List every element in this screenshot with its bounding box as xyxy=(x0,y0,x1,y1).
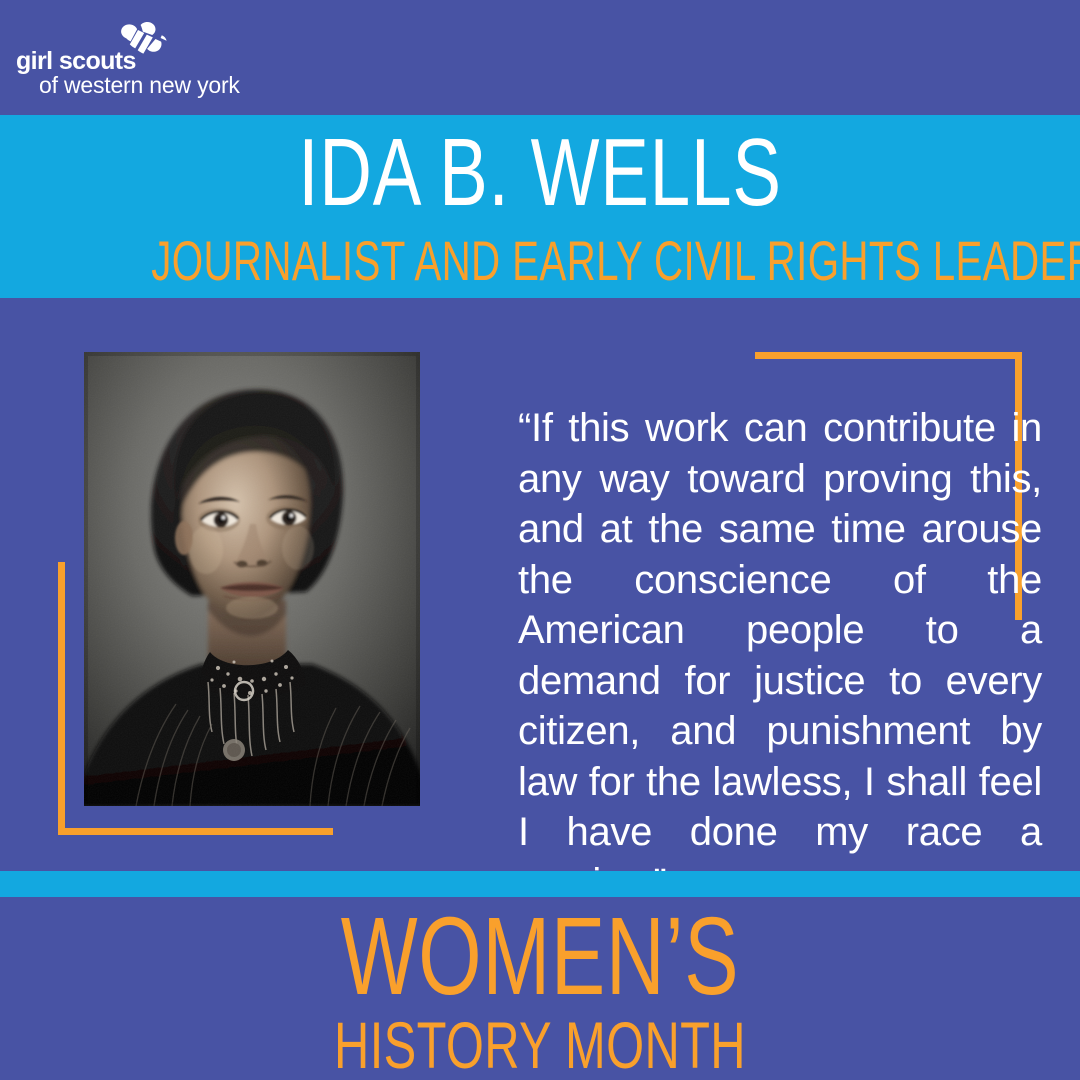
logo-secondary-text: of western new york xyxy=(39,74,240,97)
footer-subheadline: HISTORY MONTH xyxy=(140,1012,939,1078)
footer-headline: WOMEN’S xyxy=(140,902,939,1012)
header-bar: girl scouts of western new york xyxy=(0,0,1080,115)
cyan-divider xyxy=(0,871,1080,897)
quote-text: “If this work can contribute in any way … xyxy=(518,403,1042,908)
person-name-title: IDA B. WELLS xyxy=(130,125,951,221)
girl-scouts-logo: girl scouts of western new york xyxy=(16,22,276,94)
portrait-photo xyxy=(84,352,420,806)
womens-history-month-poster: girl scouts of western new york IDA B. W… xyxy=(0,0,1080,1080)
footer-bar: WOMEN’S HISTORY MONTH xyxy=(0,897,1080,1080)
person-role-subtitle: JOURNALIST AND EARLY CIVIL RIGHTS LEADER xyxy=(151,233,929,289)
logo-primary-text: girl scouts xyxy=(16,49,136,74)
title-banner: IDA B. WELLS JOURNALIST AND EARLY CIVIL … xyxy=(0,115,1080,298)
